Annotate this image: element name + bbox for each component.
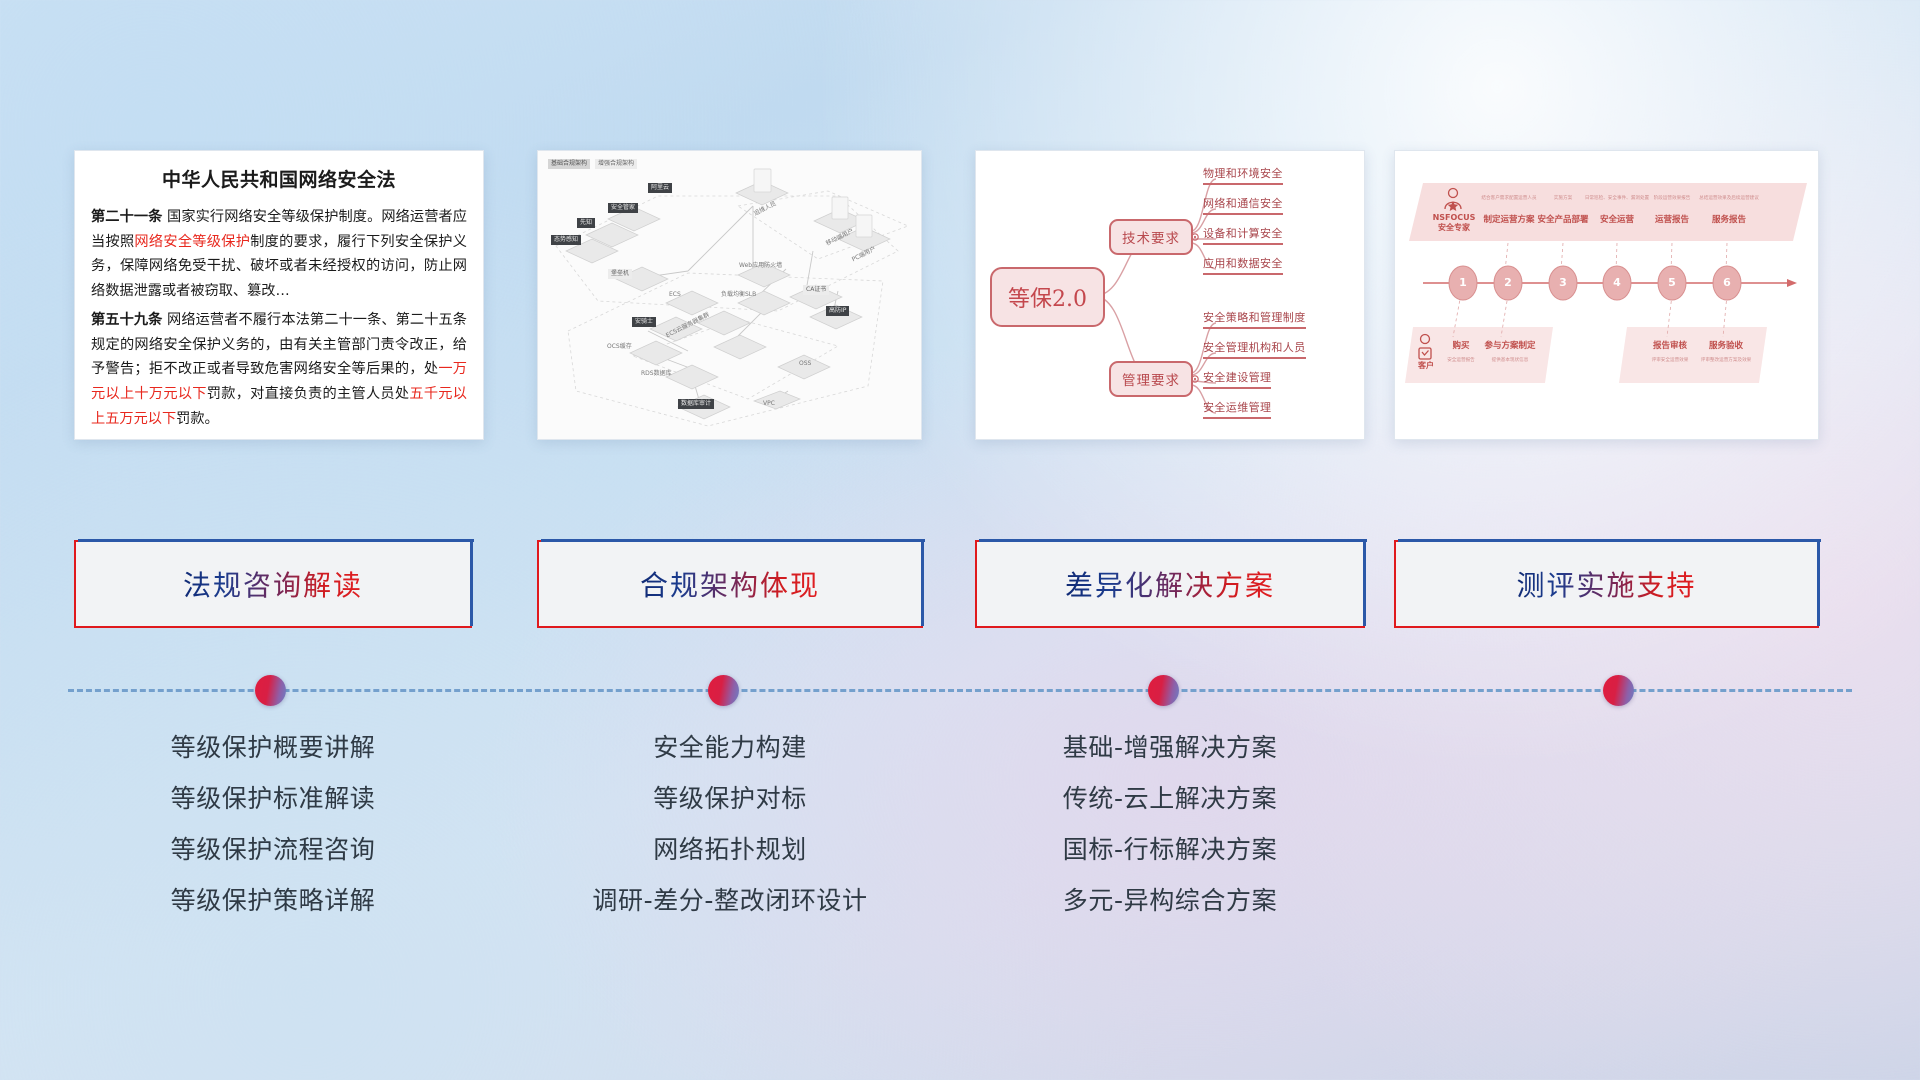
timeline-dot-2[interactable]: [708, 675, 739, 706]
list-item: 调研-差分-整改闭环设计: [537, 888, 923, 913]
arch-node-database-audit: 数据库审计: [678, 399, 714, 409]
card-cloud-architecture[interactable]: 基础合规架构 增强合规架构 阿里云 安全管家 先知 态势感知 堡垒机 ECS 安…: [537, 150, 922, 440]
timeline-dot-4[interactable]: [1603, 675, 1634, 706]
arch-node-web-application-firewall: Web应用防火墙: [736, 261, 785, 271]
card-nsfocus-timeline[interactable]: NSFOCUS 安全专家 客户 结合客户需求配置运营人员 制定运营方案 实施方案…: [1394, 150, 1819, 440]
step-6-bottom-sub: 评审整改运营方案及效果: [1691, 357, 1761, 363]
title-box-regulation-consulting[interactable]: 法规咨询解读: [74, 540, 472, 628]
mindmap-leaf-app-data: 应用和数据安全: [1203, 255, 1283, 275]
arch-legend-enhanced: 增强合规架构: [595, 159, 637, 169]
list-item: 传统-云上解决方案: [975, 786, 1365, 811]
law-title: 中华人民共和国网络安全法: [91, 165, 467, 192]
mindmap-leaf-security-org: 安全管理机构和人员: [1203, 339, 1306, 359]
mindmap-leaf-security-policy: 安全策略和管理制度: [1203, 309, 1306, 329]
timeline-dot-3[interactable]: [1148, 675, 1179, 706]
title-label-1: 法规咨询解读: [183, 564, 363, 604]
arch-node-vpc: VPC: [760, 399, 778, 409]
law-paragraph-2: 第五十九条 网络运营者不履行本法第二十一条、第二十五条规定的网络安全保护义务的，…: [91, 308, 467, 431]
title-label-3: 差异化解决方案: [1065, 564, 1275, 604]
card-mindmap-dengbao[interactable]: 等保2.0 技术要求 管理要求 物理和环境安全 网络和通信安全 设备和计算安全 …: [975, 150, 1365, 440]
arch-node-oss: OSS: [796, 359, 814, 369]
arch-node-bastion-host: 堡垒机: [608, 269, 632, 279]
list-item: 等级保护标准解读: [74, 786, 472, 811]
nsfocus-service-flow: NSFOCUS 安全专家 客户 结合客户需求配置运营人员 制定运营方案 实施方案…: [1395, 151, 1818, 439]
timeline-connector: [0, 660, 1920, 720]
law-paragraph-1: 第二十一条 国家实行网络安全等级保护制度。网络运营者应当按照网络安全等级保护制度…: [91, 205, 467, 303]
arch-node-anti-ddos-ip: 高防IP: [826, 306, 849, 316]
title-box-assessment-support[interactable]: 测评实施支持: [1394, 540, 1819, 628]
arch-node-rds-database: RDS数据库: [638, 369, 675, 379]
step-6-top-main: 服务报告: [1691, 213, 1767, 225]
step-number-4: 4: [1606, 276, 1628, 289]
mindmap-leaf-physical-env: 物理和环境安全: [1203, 165, 1283, 185]
title-boxes-row: 法规咨询解读 合规架构体现 差异化解决方案 测评实施支持: [0, 540, 1920, 640]
title-box-differentiated-solution[interactable]: 差异化解决方案: [975, 540, 1365, 628]
list-item: 等级保护策略详解: [74, 888, 472, 913]
mindmap: 等保2.0 技术要求 管理要求 物理和环境安全 网络和通信安全 设备和计算安全 …: [976, 151, 1364, 439]
mindmap-branch-technical[interactable]: 技术要求: [1109, 219, 1193, 255]
step-number-6: 6: [1716, 276, 1738, 289]
mindmap-leaf-network-comm: 网络和通信安全: [1203, 195, 1283, 215]
law-article-label-2: 第五十九条: [91, 312, 162, 328]
detail-column-3: 基础-增强解决方案 传统-云上解决方案 国标-行标解决方案 多元-异构综合方案: [975, 735, 1365, 939]
step-number-1: 1: [1452, 276, 1474, 289]
list-item: 等级保护流程咨询: [74, 837, 472, 862]
mindmap-branch-management[interactable]: 管理要求: [1109, 361, 1193, 397]
list-item: 安全能力构建: [537, 735, 923, 760]
law-document: 中华人民共和国网络安全法 第二十一条 国家实行网络安全等级保护制度。网络运营者应…: [75, 151, 483, 440]
arch-node-xianzhi: 先知: [577, 218, 595, 228]
step-number-5: 5: [1661, 276, 1683, 289]
detail-column-1: 等级保护概要讲解 等级保护标准解读 等级保护流程咨询 等级保护策略详解: [74, 735, 472, 939]
timeline-dashed-line: [68, 689, 1852, 692]
list-item: 多元-异构综合方案: [975, 888, 1365, 913]
step-number-2: 2: [1497, 276, 1519, 289]
arch-node-ecs: ECS: [666, 290, 684, 300]
timeline-dot-1[interactable]: [255, 675, 286, 706]
arch-node-aliyun: 阿里云: [648, 183, 672, 193]
arch-node-load-balancer-slb: 负载均衡SLB: [718, 290, 759, 300]
preview-cards-row: 中华人民共和国网络安全法 第二十一条 国家实行网络安全等级保护制度。网络运营者应…: [0, 0, 1920, 440]
list-item: 等级保护概要讲解: [74, 735, 472, 760]
law-seg-2-4: 罚款。: [176, 411, 219, 427]
law-article-label-1: 第二十一条: [91, 209, 162, 225]
detail-columns-row: 等级保护概要讲解 等级保护标准解读 等级保护流程咨询 等级保护策略详解 安全能力…: [0, 735, 1920, 965]
list-item: 国标-行标解决方案: [975, 837, 1365, 862]
arch-node-security-steward: 安全管家: [608, 203, 638, 213]
step-2-bottom-main: 参与方案制定: [1479, 339, 1541, 351]
mindmap-leaf-security-ops: 安全运维管理: [1203, 399, 1271, 419]
title-label-4: 测评实施支持: [1516, 564, 1696, 604]
mindmap-leaf-security-build: 安全建设管理: [1203, 369, 1271, 389]
list-item: 网络拓扑规划: [537, 837, 923, 862]
arch-legend-base: 基础合规架构: [548, 159, 590, 169]
arch-node-situational-awareness: 态势感知: [551, 235, 581, 245]
card-cybersecurity-law[interactable]: 中华人民共和国网络安全法 第二十一条 国家实行网络安全等级保护制度。网络运营者应…: [74, 150, 484, 440]
step-number-3: 3: [1552, 276, 1574, 289]
step-2-bottom-sub: 提供基本现状信息: [1479, 357, 1541, 363]
mindmap-root-node[interactable]: 等保2.0: [990, 267, 1105, 327]
law-seg-1-1: 网络安全等级保护: [134, 234, 250, 250]
title-label-2: 合规架构体现: [640, 564, 820, 604]
mindmap-leaf-device-compute: 设备和计算安全: [1203, 225, 1283, 245]
detail-column-2: 安全能力构建 等级保护对标 网络拓扑规划 调研-差分-整改闭环设计: [537, 735, 923, 939]
arch-node-anqishi: 安骑士: [632, 317, 656, 327]
step-6-top-sub: 总结运营效果及后续运营建议: [1691, 195, 1767, 201]
title-box-compliance-architecture[interactable]: 合规架构体现: [537, 540, 923, 628]
architecture-diagram: 基础合规架构 增强合规架构 阿里云 安全管家 先知 态势感知 堡垒机 ECS 安…: [538, 151, 921, 439]
arch-node-ca-certificate: CA证书: [803, 285, 829, 295]
step-6-bottom-main: 服务验收: [1697, 339, 1755, 351]
list-item: 基础-增强解决方案: [975, 735, 1365, 760]
law-seg-2-2: 罚款，对直接负责的主管人员处: [207, 386, 410, 402]
step-1-bottom-main: 购买: [1439, 339, 1483, 351]
customer-band-right: [1619, 327, 1767, 383]
step-5-bottom-main: 报告审核: [1641, 339, 1699, 351]
arch-node-ocs-cache: OCS缓存: [604, 342, 635, 352]
list-item: 等级保护对标: [537, 786, 923, 811]
